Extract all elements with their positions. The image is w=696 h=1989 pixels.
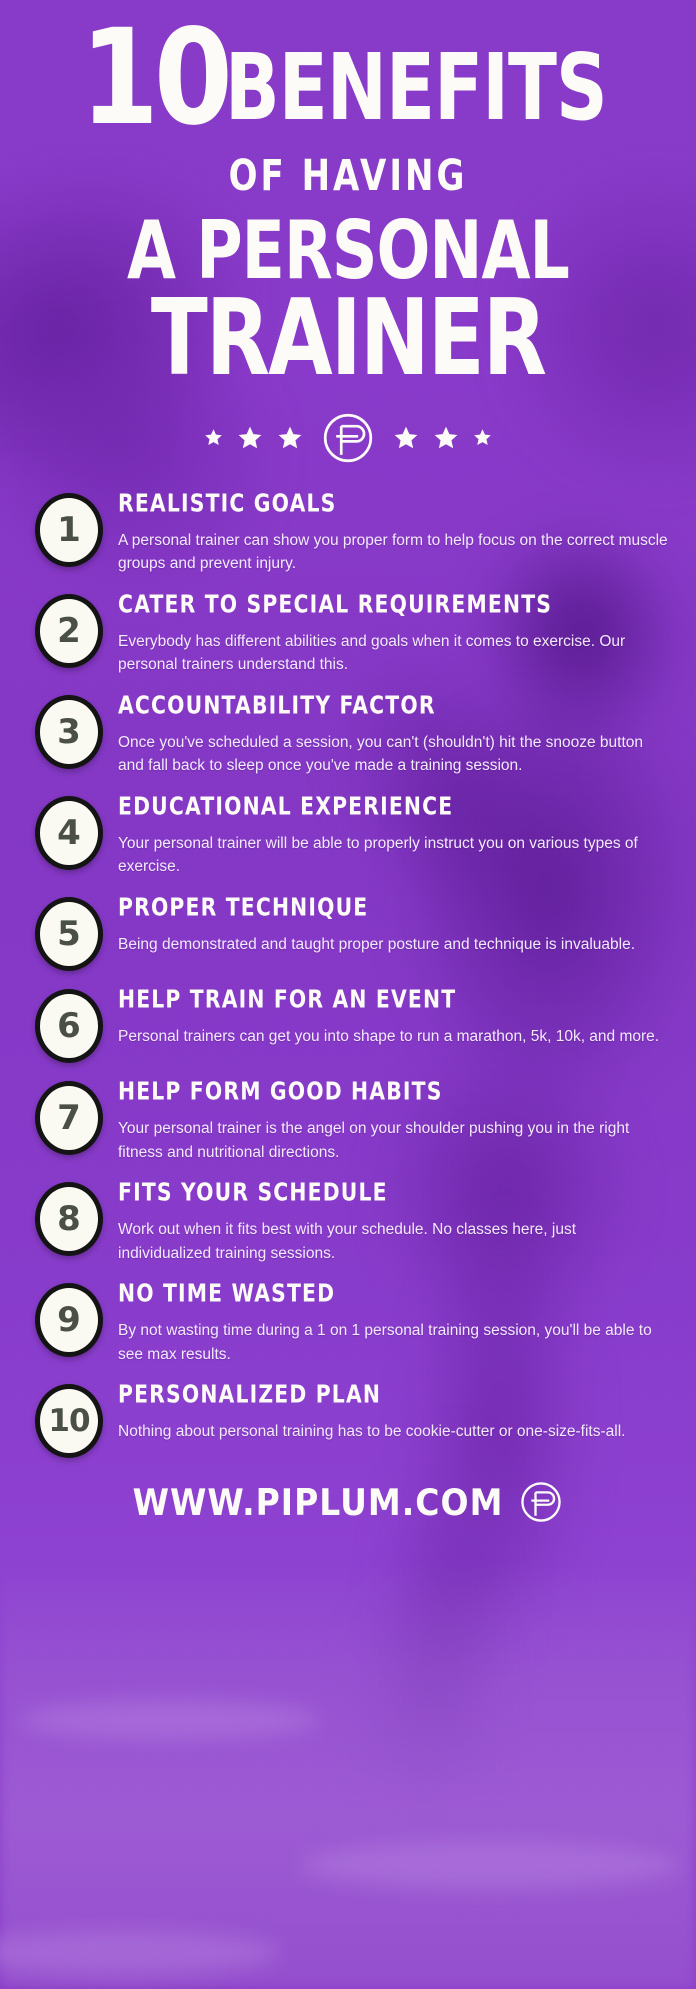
number-badge-wrap: 8 bbox=[26, 1172, 112, 1256]
list-item-body: PROPER TECHNIQUE Being demonstrated and … bbox=[112, 887, 678, 957]
list-item: 8 FITS YOUR SCHEDULE Work out when it fi… bbox=[26, 1172, 678, 1265]
piplum-logo-icon bbox=[321, 411, 375, 465]
benefits-list: 1 REALISTIC GOALS A personal trainer can… bbox=[0, 483, 696, 1459]
benefit-description: Personal trainers can get you into shape… bbox=[118, 1025, 670, 1049]
number-badge: 8 bbox=[35, 1182, 103, 1256]
number-badge-wrap: 2 bbox=[26, 584, 112, 668]
list-item-body: ACCOUNTABILITY FACTOR Once you've schedu… bbox=[112, 685, 678, 778]
number-badge-wrap: 1 bbox=[26, 483, 112, 567]
number-badge-wrap: 5 bbox=[26, 887, 112, 971]
number-badge-wrap: 6 bbox=[26, 979, 112, 1063]
number-badge: 5 bbox=[35, 897, 103, 971]
benefit-title: CATER TO SPECIAL REQUIREMENTS bbox=[118, 590, 653, 618]
headline-primary: 10 BENEFITS bbox=[0, 24, 696, 132]
star-icon bbox=[277, 425, 303, 451]
list-item-body: HELP TRAIN FOR AN EVENT Personal trainer… bbox=[112, 979, 678, 1049]
list-item: 9 NO TIME WASTED By not wasting time dur… bbox=[26, 1273, 678, 1366]
headline-count: 10 bbox=[80, 24, 228, 132]
star-icon bbox=[433, 425, 459, 451]
benefit-description: Being demonstrated and taught proper pos… bbox=[118, 933, 670, 957]
number-badge: 7 bbox=[35, 1081, 103, 1155]
benefit-description: Nothing about personal training has to b… bbox=[118, 1420, 670, 1444]
list-item: 7 HELP FORM GOOD HABITS Your personal tr… bbox=[26, 1071, 678, 1164]
benefit-title: HELP FORM GOOD HABITS bbox=[118, 1077, 653, 1105]
number-badge-wrap: 7 bbox=[26, 1071, 112, 1155]
benefit-title: NO TIME WASTED bbox=[118, 1279, 653, 1307]
benefit-description: Work out when it fits best with your sch… bbox=[118, 1218, 670, 1265]
benefit-title: REALISTIC GOALS bbox=[118, 488, 653, 516]
benefit-description: A personal trainer can show you proper f… bbox=[118, 529, 670, 576]
list-item: 6 HELP TRAIN FOR AN EVENT Personal train… bbox=[26, 979, 678, 1063]
poster-footer: WWW.PIPLUM.COM bbox=[0, 1480, 696, 1550]
benefit-title: HELP TRAIN FOR AN EVENT bbox=[118, 985, 653, 1013]
number-badge: 4 bbox=[35, 796, 103, 870]
benefit-description: Everybody has different abilities and go… bbox=[118, 630, 670, 677]
list-item-body: FITS YOUR SCHEDULE Work out when it fits… bbox=[112, 1172, 678, 1265]
list-item: 3 ACCOUNTABILITY FACTOR Once you've sche… bbox=[26, 685, 678, 778]
star-icon bbox=[237, 425, 263, 451]
benefit-title: PERSONALIZED PLAN bbox=[118, 1380, 653, 1408]
headline-benefits: BENEFITS bbox=[225, 52, 607, 132]
headline-trainer: TRAINER bbox=[10, 290, 685, 390]
star-icon bbox=[393, 425, 419, 451]
infographic-poster: 10 BENEFITS OF HAVING A PERSONAL TRAINER bbox=[0, 0, 696, 1989]
number-badge-wrap: 4 bbox=[26, 786, 112, 870]
number-badge: 10 bbox=[35, 1384, 103, 1458]
benefit-description: Once you've scheduled a session, you can… bbox=[118, 731, 670, 778]
benefit-description: By not wasting time during a 1 on 1 pers… bbox=[118, 1319, 670, 1366]
number-badge: 6 bbox=[35, 989, 103, 1063]
number-badge-wrap: 3 bbox=[26, 685, 112, 769]
benefit-title: PROPER TECHNIQUE bbox=[118, 893, 653, 921]
list-item-body: HELP FORM GOOD HABITS Your personal trai… bbox=[112, 1071, 678, 1164]
list-item: 1 REALISTIC GOALS A personal trainer can… bbox=[26, 483, 678, 576]
number-badge: 3 bbox=[35, 695, 103, 769]
list-item: 2 CATER TO SPECIAL REQUIREMENTS Everybod… bbox=[26, 584, 678, 677]
benefit-title: EDUCATIONAL EXPERIENCE bbox=[118, 792, 653, 820]
star-icon bbox=[473, 428, 492, 447]
number-badge: 2 bbox=[35, 594, 103, 668]
number-badge: 9 bbox=[35, 1283, 103, 1357]
number-badge-wrap: 10 bbox=[26, 1374, 112, 1458]
benefit-description: Your personal trainer is the angel on yo… bbox=[118, 1117, 670, 1164]
list-item-body: CATER TO SPECIAL REQUIREMENTS Everybody … bbox=[112, 584, 678, 677]
piplum-logo-icon bbox=[519, 1480, 563, 1524]
list-item-body: EDUCATIONAL EXPERIENCE Your personal tra… bbox=[112, 786, 678, 879]
list-item-body: NO TIME WASTED By not wasting time durin… bbox=[112, 1273, 678, 1366]
website-url[interactable]: WWW.PIPLUM.COM bbox=[133, 1481, 504, 1524]
number-badge-wrap: 9 bbox=[26, 1273, 112, 1357]
list-item-body: PERSONALIZED PLAN Nothing about personal… bbox=[112, 1374, 678, 1444]
benefit-description: Your personal trainer will be able to pr… bbox=[118, 832, 670, 879]
star-icon bbox=[204, 428, 223, 447]
headline-of-having: OF HAVING bbox=[0, 151, 696, 201]
benefit-title: FITS YOUR SCHEDULE bbox=[118, 1178, 653, 1206]
poster-header: 10 BENEFITS OF HAVING A PERSONAL TRAINER bbox=[0, 0, 696, 381]
list-item: 10 PERSONALIZED PLAN Nothing about perso… bbox=[26, 1374, 678, 1458]
list-item-body: REALISTIC GOALS A personal trainer can s… bbox=[112, 483, 678, 576]
number-badge: 1 bbox=[35, 493, 103, 567]
list-item: 5 PROPER TECHNIQUE Being demonstrated an… bbox=[26, 887, 678, 971]
star-divider bbox=[0, 411, 696, 465]
list-item: 4 EDUCATIONAL EXPERIENCE Your personal t… bbox=[26, 786, 678, 879]
benefit-title: ACCOUNTABILITY FACTOR bbox=[118, 691, 653, 719]
